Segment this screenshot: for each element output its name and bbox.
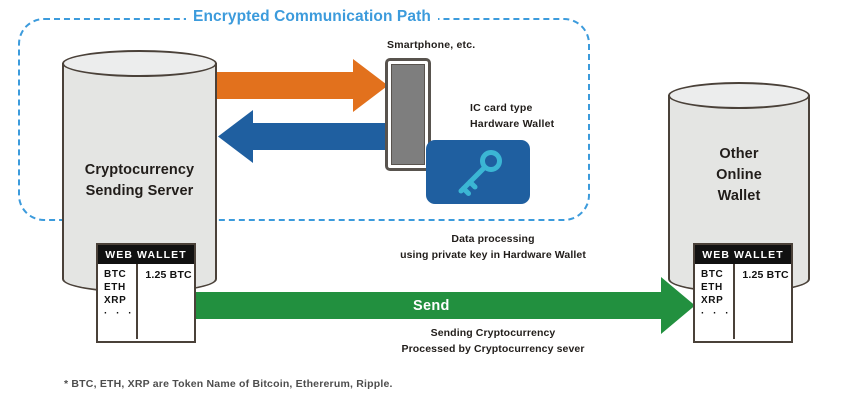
data-processing-caption: Data processing using private key in Har… bbox=[363, 232, 623, 264]
ic-card-label-line2: Hardware Wallet bbox=[470, 117, 554, 133]
token-eth: ETH bbox=[104, 282, 136, 295]
other-online-wallet-line3: Wallet bbox=[668, 186, 810, 207]
ic-card-label-line1: IC card type bbox=[470, 101, 554, 117]
web-wallet-left-body: BTC ETH XRP · · · 1.25 BTC bbox=[98, 264, 194, 339]
web-wallet-right: WEB WALLET BTC ETH XRP · · · 1.25 BTC bbox=[693, 243, 793, 343]
send-caption-line1: Sending Cryptocurrency bbox=[363, 326, 623, 342]
web-wallet-right-tokens: BTC ETH XRP · · · bbox=[695, 264, 735, 339]
smartphone-screen bbox=[391, 64, 425, 165]
ic-card-hardware-wallet bbox=[426, 140, 530, 204]
web-wallet-left: WEB WALLET BTC ETH XRP · · · 1.25 BTC bbox=[96, 243, 196, 343]
web-wallet-right-amount-col: 1.25 BTC bbox=[735, 264, 791, 339]
token-btc: BTC bbox=[104, 269, 136, 282]
data-processing-line2: using private key in Hardware Wallet bbox=[363, 248, 623, 264]
cylinder-top bbox=[62, 50, 217, 77]
other-online-wallet-line2: Online bbox=[668, 165, 810, 186]
footnote: * BTC, ETH, XRP are Token Name of Bitcoi… bbox=[64, 378, 393, 390]
key-icon bbox=[426, 140, 530, 204]
token-xrp: XRP bbox=[701, 295, 733, 308]
sending-server-label-line1: Cryptocurrency bbox=[62, 160, 217, 181]
sending-server-label-line2: Sending Server bbox=[62, 181, 217, 202]
token-ellipsis: · · · bbox=[104, 307, 136, 320]
web-wallet-left-header: WEB WALLET bbox=[98, 245, 194, 264]
web-wallet-left-amount: 1.25 BTC bbox=[145, 269, 194, 281]
web-wallet-right-amount: 1.25 BTC bbox=[742, 269, 791, 281]
web-wallet-right-body: BTC ETH XRP · · · 1.25 BTC bbox=[695, 264, 791, 339]
data-processing-line1: Data processing bbox=[363, 232, 623, 248]
token-ellipsis: · · · bbox=[701, 307, 733, 320]
other-online-wallet-line1: Other bbox=[668, 144, 810, 165]
ic-card-label: IC card type Hardware Wallet bbox=[470, 101, 554, 133]
other-online-wallet-label: Other Online Wallet bbox=[668, 144, 810, 207]
sending-server-label: Cryptocurrency Sending Server bbox=[62, 160, 217, 202]
smartphone-device bbox=[385, 58, 431, 171]
send-caption: Sending Cryptocurrency Processed by Cryp… bbox=[363, 326, 623, 358]
send-caption-line2: Processed by Cryptocurrency sever bbox=[363, 342, 623, 358]
token-btc: BTC bbox=[701, 269, 733, 282]
send-arrow-label: Send bbox=[413, 298, 450, 314]
cylinder-top bbox=[668, 82, 810, 109]
token-eth: ETH bbox=[701, 282, 733, 295]
web-wallet-right-header: WEB WALLET bbox=[695, 245, 791, 264]
diagram-canvas: Encrypted Communication Path Cryptocurre… bbox=[0, 0, 850, 413]
token-xrp: XRP bbox=[104, 295, 136, 308]
smartphone-label: Smartphone, etc. bbox=[387, 39, 475, 51]
web-wallet-left-amount-col: 1.25 BTC bbox=[138, 264, 194, 339]
web-wallet-left-tokens: BTC ETH XRP · · · bbox=[98, 264, 138, 339]
encrypted-path-title: Encrypted Communication Path bbox=[186, 8, 438, 26]
